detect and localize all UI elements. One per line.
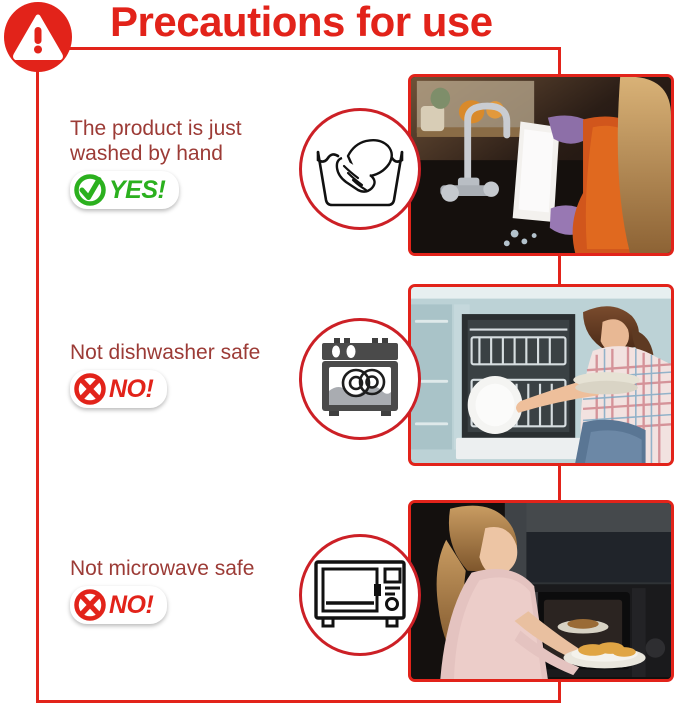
badge-word-1: YES! — [109, 176, 165, 205]
dishwasher-icon — [299, 318, 421, 440]
connector-bottom-horizontal — [36, 700, 561, 703]
cross-circle-icon — [73, 588, 107, 622]
connector-photo1-photo2 — [558, 253, 561, 287]
status-badge-no-microwave: NO! — [70, 586, 167, 624]
caption-block-2: Not dishwasher safe NO! — [70, 340, 310, 411]
microwave-icon — [299, 534, 421, 656]
warning-triangle-icon — [4, 2, 72, 72]
precaution-row-microwave: Not microwave safe NO! — [0, 500, 679, 682]
badge-word-2: NO! — [109, 375, 153, 404]
precaution-row-hand-wash: The product is just washed by hand YES! — [0, 74, 679, 256]
caption-block-1: The product is just washed by hand YES! — [70, 116, 310, 212]
status-badge-no-dishwasher: NO! — [70, 370, 167, 408]
caption-block-3: Not microwave safe NO! — [70, 556, 310, 627]
precaution-row-dishwasher: Not dishwasher safe NO! — [0, 284, 679, 466]
check-circle-icon — [73, 173, 107, 207]
status-badge-yes: YES! — [70, 171, 179, 209]
dishwasher-photo — [408, 284, 674, 466]
caption-line-1a: The product is just — [70, 116, 310, 141]
caption-line-2a: Not dishwasher safe — [70, 340, 310, 365]
connector-photo2-photo3 — [558, 463, 561, 503]
cross-circle-icon — [73, 372, 107, 406]
caption-line-3a: Not microwave safe — [70, 556, 310, 581]
microwave-photo — [408, 500, 674, 682]
connector-top-right-vertical — [558, 47, 561, 77]
hand-washing-photo — [408, 74, 674, 256]
page-title: Precautions for use — [110, 0, 560, 48]
badge-word-3: NO! — [109, 591, 153, 620]
hand-wash-icon — [299, 108, 421, 230]
caption-line-1b: washed by hand — [70, 141, 310, 166]
